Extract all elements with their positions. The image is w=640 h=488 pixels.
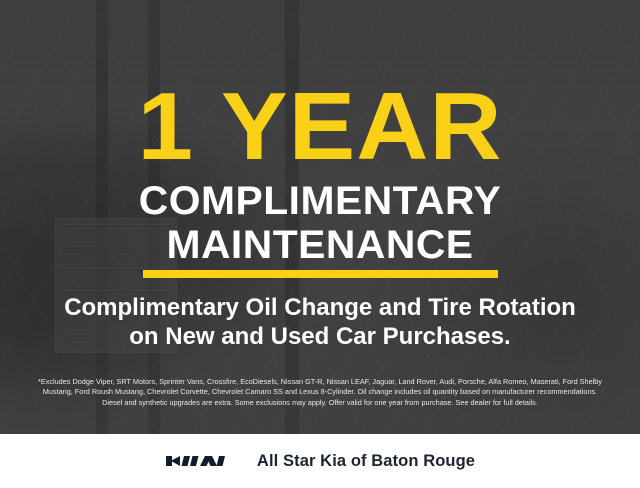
disclaimer-line-1: *Excludes Dodge Viper, SRT Motors, Sprin… [14, 377, 626, 387]
dealer-name: All Star Kia of Baton Rouge [257, 452, 475, 471]
footer-bar: All Star Kia of Baton Rouge [0, 434, 640, 488]
hero-content: 1 YEAR COMPLIMENTARY MAINTENANCE Complim… [0, 0, 640, 434]
yellow-divider-bar [143, 270, 498, 278]
kia-logo[interactable] [165, 451, 239, 471]
headline-year: 1 YEAR [0, 79, 640, 175]
subheadline-line-1: Complimentary Oil Change and Tire Rotati… [0, 293, 640, 323]
hero-section: 1 YEAR COMPLIMENTARY MAINTENANCE Complim… [0, 0, 640, 434]
headline-maintenance: MAINTENANCE [0, 225, 640, 265]
disclaimer-fineprint: *Excludes Dodge Viper, SRT Motors, Sprin… [14, 377, 626, 408]
promotional-ad-banner[interactable]: 1 YEAR COMPLIMENTARY MAINTENANCE Complim… [0, 0, 640, 488]
disclaimer-line-3: Diesel and synthetic upgrades are extra.… [14, 398, 626, 408]
subheadline-line-2: on New and Used Car Purchases. [0, 322, 640, 352]
kia-logo-icon [165, 451, 239, 471]
disclaimer-line-2: Mustang, Ford Roush Mustang, Chevrolet C… [14, 387, 626, 397]
headline-complimentary: COMPLIMENTARY [0, 181, 640, 221]
